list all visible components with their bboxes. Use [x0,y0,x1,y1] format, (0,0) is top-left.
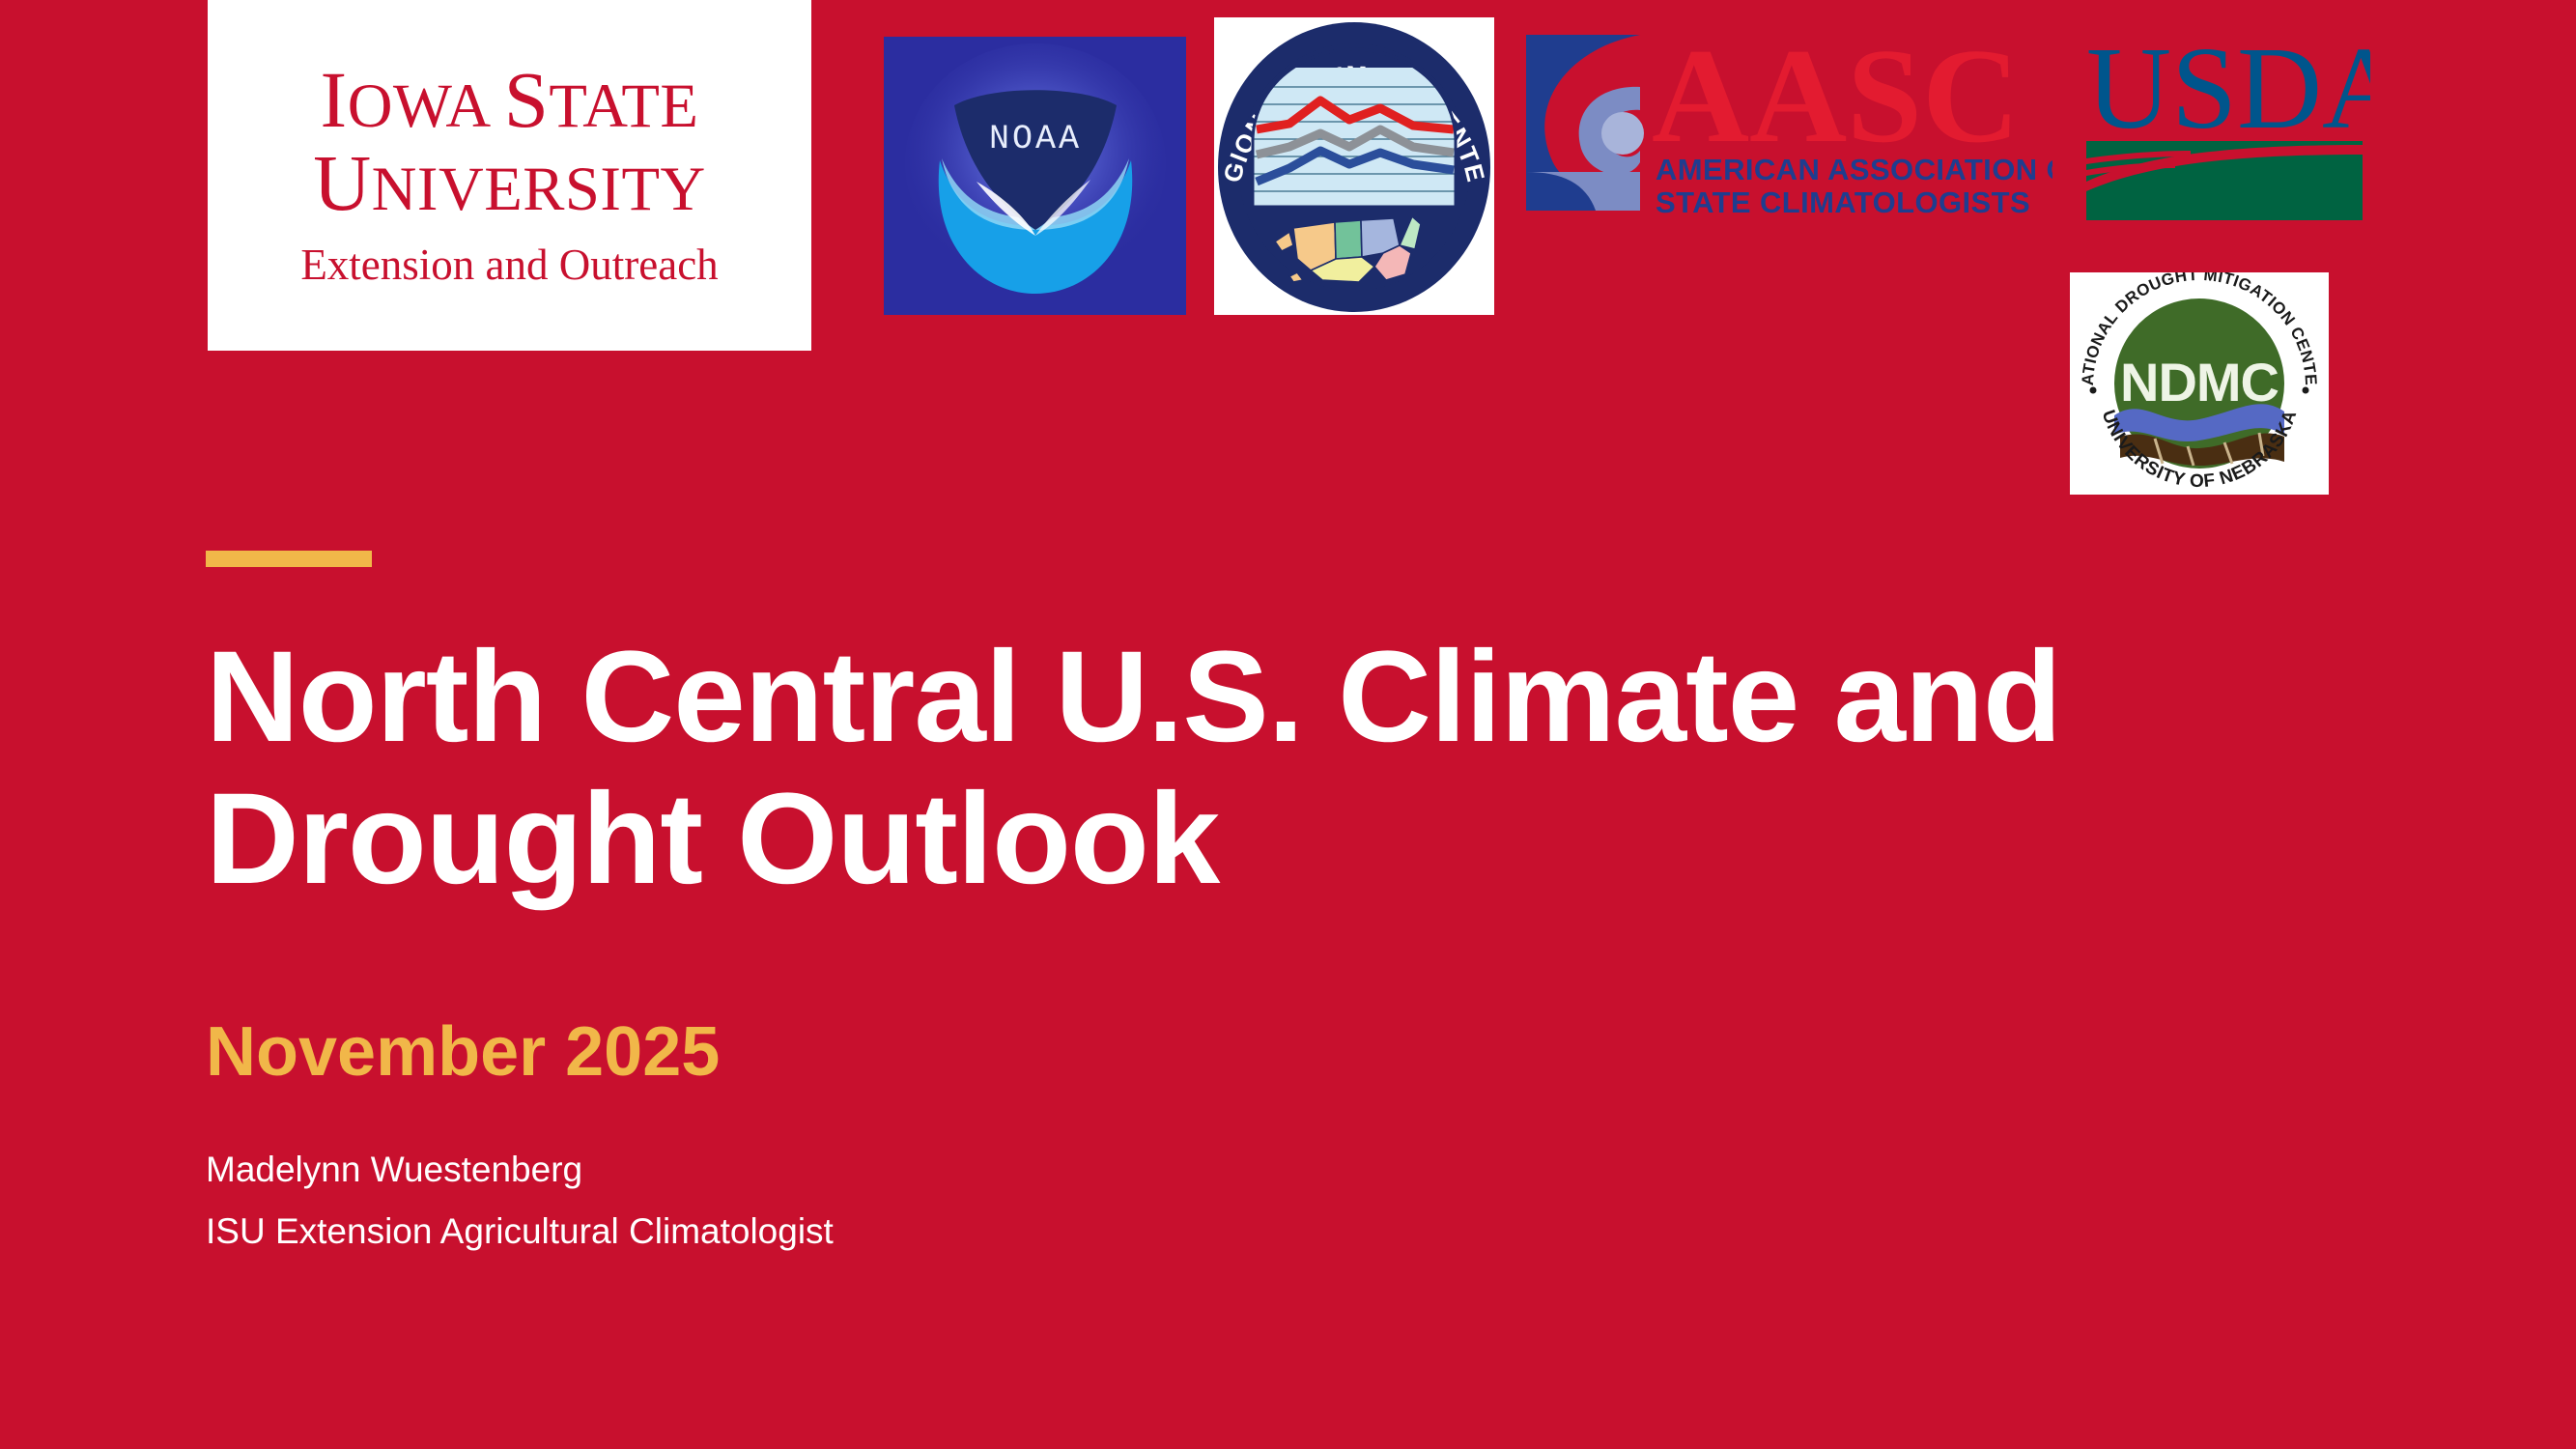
regional-climate-centers-logo: REGIONAL CLIMATE CENTERS [1214,17,1494,315]
usda-wordmark: USDA [2086,27,2370,154]
aasc-subtitle-line-2: STATE CLIMATOLOGISTS [1656,185,2030,217]
isu-logo-line-2: UNIVERSITY [313,144,706,222]
ndmc-logo: NDMC NATIONAL DROUGHT MITIGATION CENTER … [2070,272,2329,495]
aasc-emblem-icon: AASC AMERICAN ASSOCIATION OF STATE CLIMA… [1526,27,2052,217]
accent-bar [206,551,372,567]
isu-logo-tagline: Extension and Outreach [300,240,718,290]
author-name: Madelynn Wuestenberg [206,1150,582,1190]
aasc-acronym: AASC [1652,27,2020,171]
ndmc-emblem-icon: NDMC NATIONAL DROUGHT MITIGATION CENTER … [2070,272,2329,495]
iowa-state-university-logo: IOWA STATE UNIVERSITY Extension and Outr… [208,0,811,351]
isu-logo-university-rest: NIVERSITY [372,155,706,224]
ndmc-acronym: NDMC [2120,352,2279,412]
usda-emblem-icon: USDA [2079,27,2370,225]
author-role: ISU Extension Agricultural Climatologist [206,1211,834,1252]
isu-logo-line-1: IOWA STATE [321,61,699,139]
noaa-emblem-icon: NOAA [884,37,1186,315]
isu-logo-iowa-i: I [321,55,348,144]
noaa-logo: NOAA [884,37,1186,315]
isu-logo-state-rest: TATE [549,71,698,141]
usda-logo: USDA [2079,27,2370,225]
page-subtitle: November 2025 [206,1012,720,1092]
title-slide: IOWA STATE UNIVERSITY Extension and Outr… [0,0,2576,1449]
isu-logo-state-s: S [504,55,550,144]
aasc-logo: AASC AMERICAN ASSOCIATION OF STATE CLIMA… [1526,27,2052,217]
aasc-hurricane-icon [1526,35,1644,211]
page-title: North Central U.S. Climate and Drought O… [206,626,2543,911]
noaa-logo-text: NOAA [989,120,1082,158]
page-title-line-2: Drought Outlook [206,768,2543,910]
isu-logo-university-u: U [313,138,371,227]
isu-logo-iowa-rest: OWA [348,71,504,141]
aasc-subtitle-line-1: AMERICAN ASSOCIATION OF [1656,153,2052,186]
page-title-line-1: North Central U.S. Climate and [206,626,2543,768]
rcc-emblem-icon: REGIONAL CLIMATE CENTERS [1214,17,1494,315]
